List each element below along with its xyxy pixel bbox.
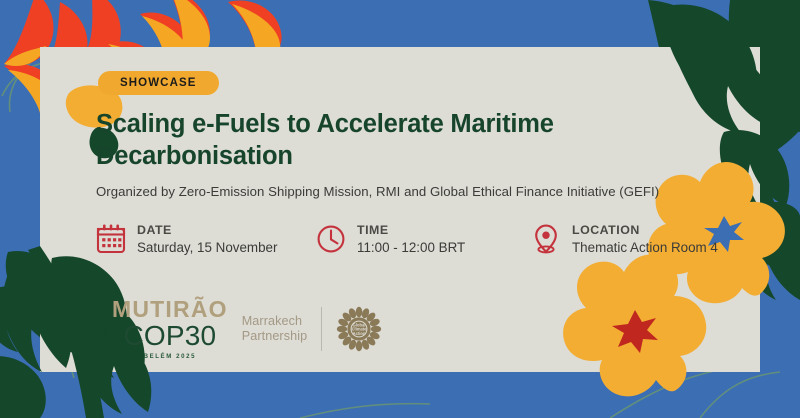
global-climate-action-emblem: Global Climate Action xyxy=(336,306,382,352)
event-meta-row: DATE Saturday, 15 November TIME 11:00 - … xyxy=(96,221,726,257)
marrakech-line-2: Partnership xyxy=(242,329,308,344)
logo-row: MUTIRÃO COP30 BELÉM 2025 Marrakech Partn… xyxy=(112,298,382,360)
organizer-line: Organized by Zero-Emission Shipping Miss… xyxy=(96,184,726,199)
meta-item-date: DATE Saturday, 15 November xyxy=(96,221,316,257)
meta-location-label: LOCATION xyxy=(572,223,640,237)
clock-icon xyxy=(316,223,346,255)
page-title: Scaling e-Fuels to Accelerate Maritime D… xyxy=(96,109,696,173)
event-card-content: SHOWCASE Scaling e-Fuels to Accelerate M… xyxy=(40,47,760,372)
gca-text-line-3: Action xyxy=(353,331,366,336)
meta-location-value: Thematic Action Room 4 xyxy=(572,239,718,257)
cop30-logo-cop30: COP30 xyxy=(112,322,228,350)
meta-date-text: DATE Saturday, 15 November xyxy=(137,221,277,257)
meta-date-value: Saturday, 15 November xyxy=(137,239,277,257)
meta-location-text: LOCATION Thematic Action Room 4 xyxy=(572,221,718,257)
meta-time-label: TIME xyxy=(357,223,389,237)
status-badge: SHOWCASE xyxy=(98,71,219,95)
meta-item-time: TIME 11:00 - 12:00 BRT xyxy=(316,221,531,257)
cop30-logo: MUTIRÃO COP30 BELÉM 2025 xyxy=(112,298,228,360)
cop30-logo-mutirao: MUTIRÃO xyxy=(112,298,228,321)
marrakech-partnership-label: Marrakech Partnership xyxy=(242,314,308,345)
meta-time-text: TIME 11:00 - 12:00 BRT xyxy=(357,221,465,257)
poster-canvas: SHOWCASE Scaling e-Fuels to Accelerate M… xyxy=(0,0,800,418)
logo-divider xyxy=(321,307,322,351)
cop30-logo-belem: BELÉM 2025 xyxy=(112,354,228,360)
meta-time-value: 11:00 - 12:00 BRT xyxy=(357,239,465,257)
location-pin-icon xyxy=(531,223,561,255)
marrakech-line-1: Marrakech xyxy=(242,314,308,329)
calendar-icon xyxy=(96,223,126,255)
meta-item-location: LOCATION Thematic Action Room 4 xyxy=(531,221,718,257)
meta-date-label: DATE xyxy=(137,223,172,237)
